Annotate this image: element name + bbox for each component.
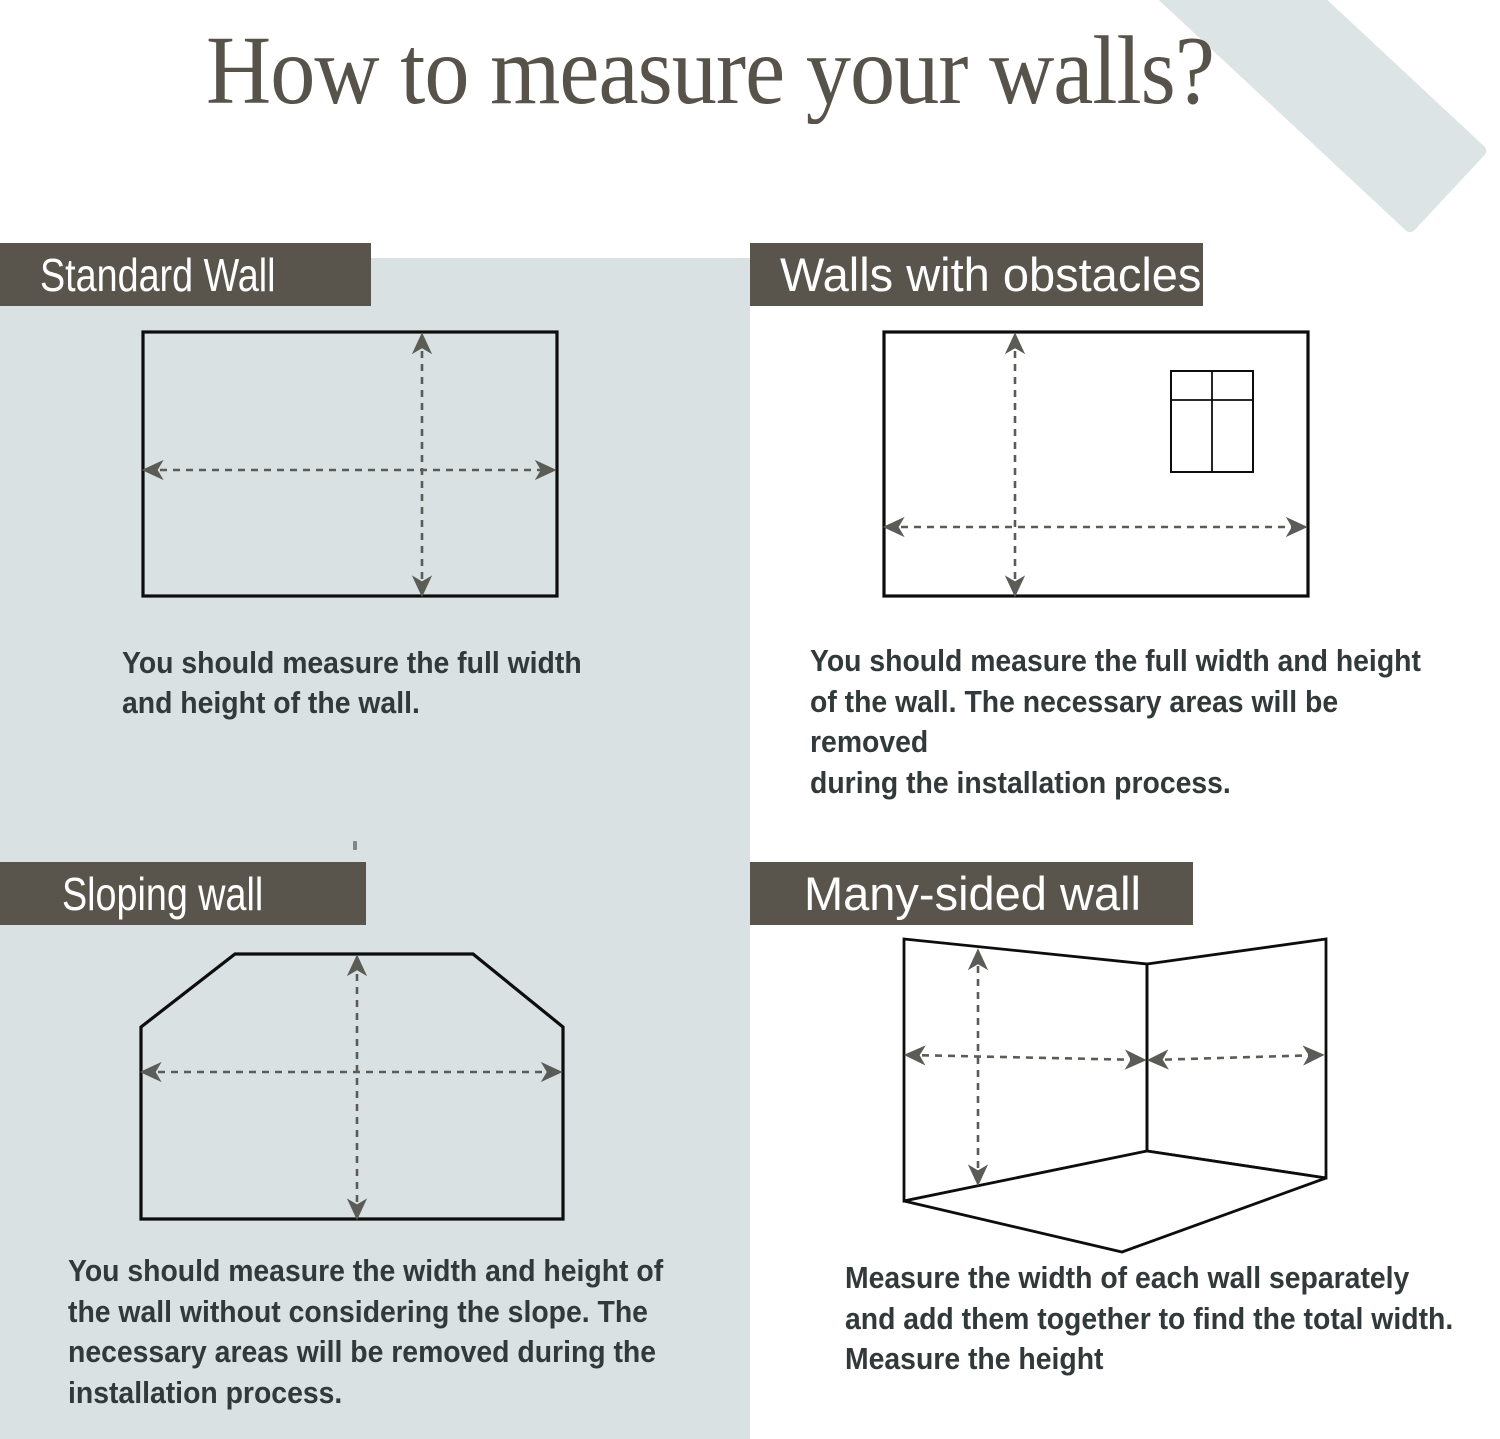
sloped-wall-outline [141, 954, 563, 1219]
section-header-label: Standard Wall [40, 248, 276, 302]
infographic-root: How to measure your walls? Standard Wall… [0, 0, 1500, 1439]
section-header-label: Many-sided wall [804, 866, 1141, 921]
section-header-label: Walls with obstacles [780, 247, 1201, 302]
section-header-sloping-wall: Sloping wall [0, 862, 366, 925]
diagram-wall-with-obstacles [860, 320, 1340, 620]
wall-outline [143, 332, 557, 596]
section-header-label: Sloping wall [62, 867, 263, 921]
caption-standard-wall: You should measure the full width and he… [122, 644, 699, 723]
diagram-sloping-wall [120, 930, 600, 1260]
page-title: How to measure your walls? [50, 22, 1371, 119]
section-header-standard-wall: Standard Wall [0, 243, 371, 306]
caption-walls-with-obstacles: You should measure the full width and he… [810, 641, 1461, 803]
stray-mark [353, 841, 357, 850]
many-sided-wall-svg [865, 920, 1365, 1265]
diagram-many-sided-wall [865, 920, 1365, 1265]
sloping-wall-svg [120, 930, 600, 1260]
standard-wall-svg [120, 320, 600, 620]
section-header-walls-with-obstacles: Walls with obstacles [750, 243, 1203, 306]
section-header-many-sided-wall: Many-sided wall [750, 862, 1193, 925]
caption-sloping-wall: You should measure the width and height … [68, 1251, 700, 1413]
caption-many-sided-wall: Measure the width of each wall separatel… [845, 1258, 1477, 1380]
obstacles-wall-svg [860, 320, 1340, 620]
diagram-standard-wall [120, 320, 600, 620]
window-obstacle [1171, 371, 1253, 472]
